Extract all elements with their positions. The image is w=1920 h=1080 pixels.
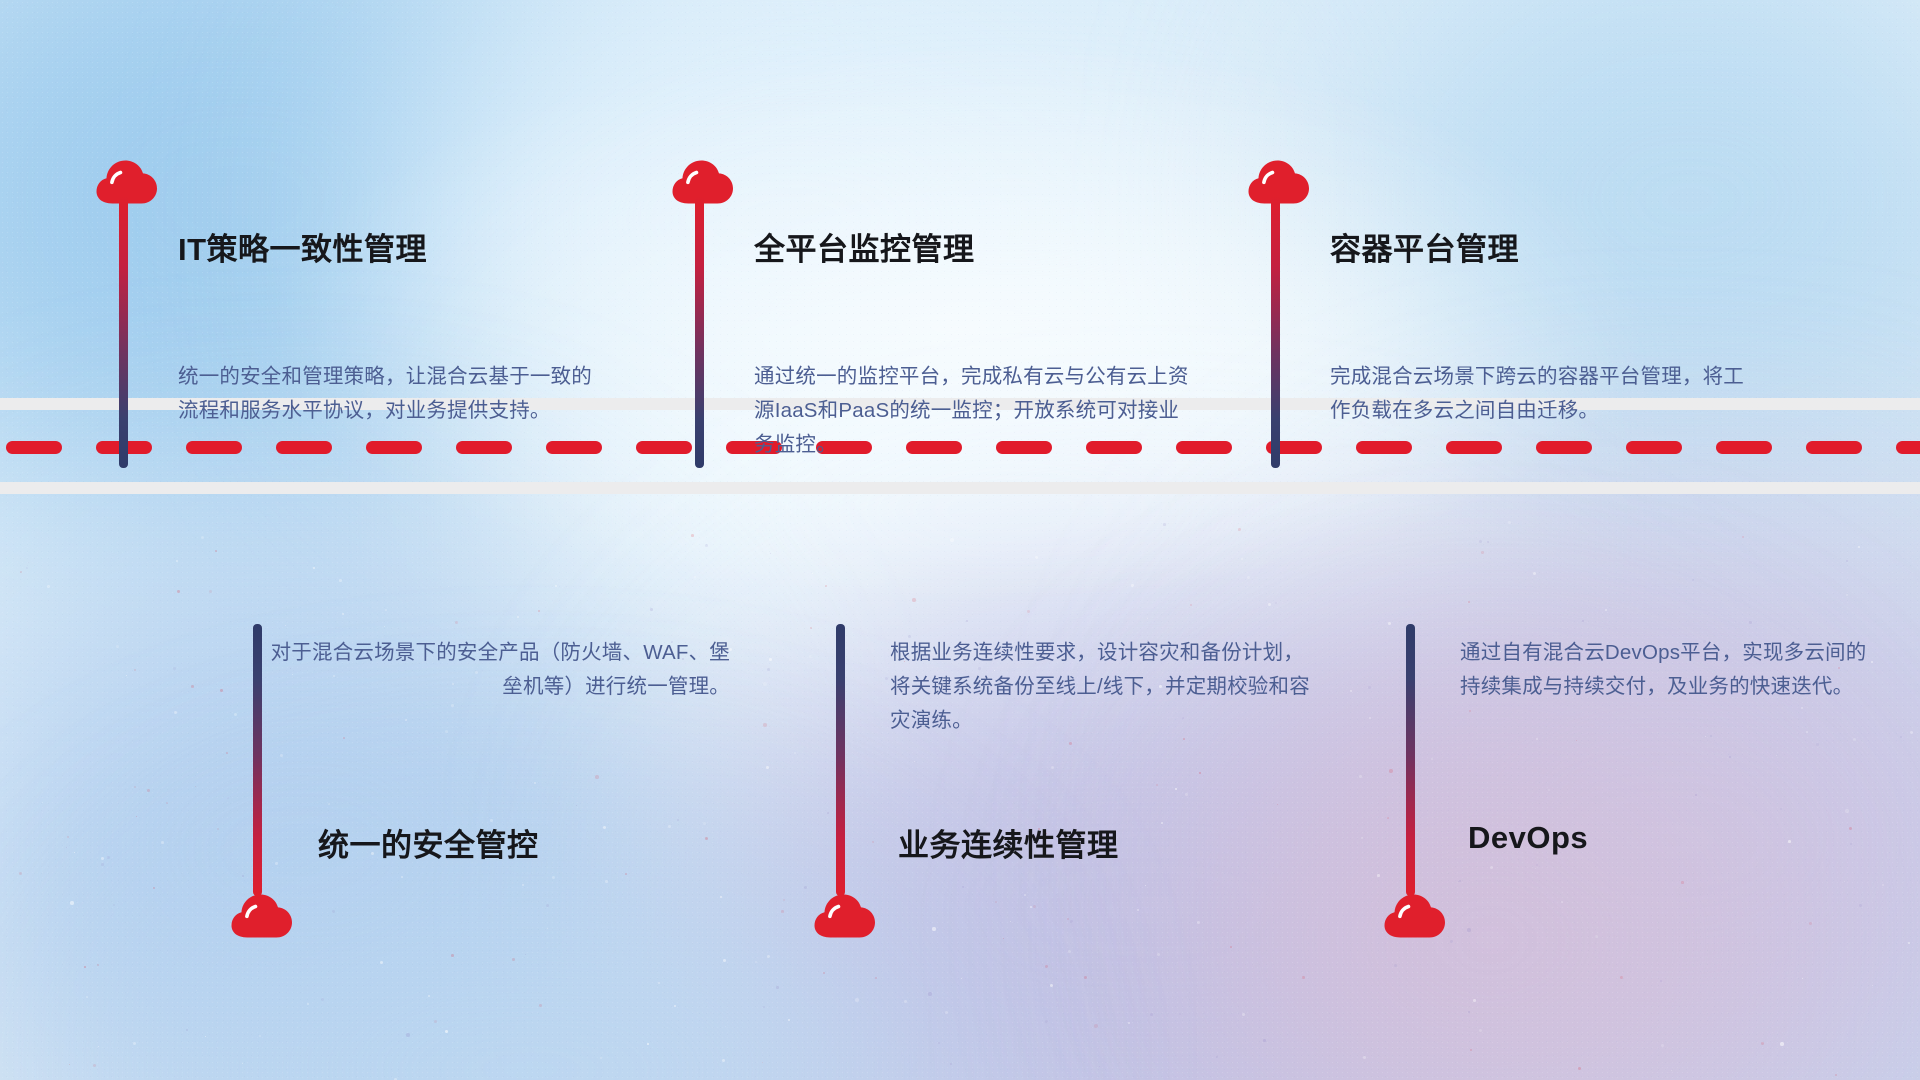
background-speck	[1241, 558, 1243, 560]
background-speck	[1268, 603, 1271, 606]
card-title: DevOps	[1468, 820, 1588, 856]
background-speck	[116, 645, 119, 648]
background-speck	[1175, 788, 1177, 790]
card-description: 对于混合云场景下的安全产品（防火墙、WAF、堡垒机等）进行统一管理。	[270, 636, 730, 704]
background-speck	[809, 655, 812, 658]
connector-line	[1406, 624, 1415, 896]
background-speck	[928, 992, 932, 996]
background-speck	[1908, 942, 1910, 944]
divider-band-bottom	[0, 482, 1920, 494]
background-speck	[1051, 766, 1054, 769]
background-speck	[1468, 1011, 1470, 1013]
background-speck	[855, 998, 859, 1002]
background-speck	[1216, 1056, 1218, 1058]
background-speck	[605, 880, 608, 883]
background-speck	[1561, 901, 1563, 903]
background-speck	[343, 737, 345, 739]
background-speck	[912, 598, 916, 602]
card-title: 统一的安全管控	[318, 820, 539, 865]
background-speck	[872, 841, 874, 843]
background-speck	[177, 590, 180, 593]
background-speck	[1094, 1024, 1098, 1028]
background-speck	[763, 1006, 765, 1008]
background-speck	[173, 667, 176, 670]
background-speck	[625, 873, 627, 875]
connector-line	[836, 624, 845, 896]
divider-dash	[456, 441, 512, 454]
background-speck	[1131, 584, 1134, 587]
background-speck	[321, 998, 324, 1001]
divider-dash	[546, 441, 602, 454]
background-speck	[1389, 769, 1393, 773]
background-speck	[539, 1004, 542, 1007]
background-speck	[674, 1005, 676, 1007]
background-speck	[1816, 743, 1819, 746]
divider-dash	[366, 441, 422, 454]
background-speck	[522, 884, 524, 886]
background-speck	[275, 862, 278, 865]
background-speck	[723, 959, 726, 962]
background-speck	[1846, 594, 1848, 596]
background-speck	[938, 1042, 940, 1044]
background-speck	[101, 863, 104, 866]
background-speck	[313, 567, 315, 569]
background-speck	[647, 1043, 649, 1045]
background-speck	[512, 958, 515, 961]
background-speck	[428, 995, 430, 997]
background-speck	[1900, 736, 1902, 738]
background-speck	[769, 658, 772, 661]
background-speck	[763, 682, 767, 686]
background-speck	[875, 977, 877, 979]
background-speck	[1469, 710, 1471, 712]
connector-line	[695, 196, 704, 468]
background-speck	[1069, 742, 1072, 745]
background-speck	[1605, 609, 1607, 611]
card-title: 容器平台管理	[1330, 224, 1519, 269]
background-speck	[67, 836, 69, 838]
cloud-icon	[814, 894, 876, 938]
background-speck	[966, 620, 968, 622]
background-speck	[691, 534, 694, 537]
background-speck	[339, 579, 342, 582]
background-speck	[1536, 864, 1538, 866]
background-speck	[1263, 1039, 1266, 1042]
background-speck	[93, 1064, 96, 1067]
background-speck	[1363, 1056, 1366, 1059]
background-speck	[70, 901, 74, 905]
background-speck	[385, 609, 387, 611]
background-speck	[1846, 560, 1848, 562]
background-speck	[600, 1057, 602, 1059]
background-speck	[720, 896, 722, 898]
background-speck	[763, 723, 767, 727]
background-speck	[101, 857, 104, 860]
background-speck	[220, 689, 223, 692]
background-speck	[1179, 1013, 1181, 1015]
background-speck	[1734, 622, 1735, 623]
background-speck	[576, 805, 577, 806]
cloud-icon	[231, 894, 293, 938]
background-speck	[534, 782, 536, 784]
background-speck	[1681, 881, 1684, 884]
background-speck	[161, 841, 164, 844]
background-speck	[1729, 756, 1731, 758]
background-speck	[1185, 793, 1188, 796]
background-speck	[668, 825, 671, 828]
card-title: 全平台监控管理	[754, 224, 975, 269]
background-speck	[191, 685, 194, 688]
background-speck	[401, 876, 403, 878]
background-speck	[1468, 601, 1470, 603]
background-speck	[1242, 1013, 1245, 1016]
background-speck	[1431, 758, 1433, 760]
divider-dash	[1446, 441, 1502, 454]
background-speck	[227, 797, 229, 799]
divider-dash	[186, 441, 242, 454]
background-speck	[1845, 809, 1849, 813]
background-speck	[823, 972, 825, 974]
cloud-icon	[1384, 894, 1446, 938]
background-speck	[1788, 840, 1791, 843]
background-speck	[1361, 837, 1363, 839]
background-speck	[1163, 523, 1166, 526]
divider-dash	[1356, 441, 1412, 454]
background-speck	[1582, 620, 1584, 622]
card-description: 通过统一的监控平台，完成私有云与公有云上资源IaaS和PaaS的统一监控；开放系…	[754, 360, 1194, 462]
background-speck	[86, 996, 88, 998]
background-speck	[755, 961, 757, 963]
background-speck	[147, 789, 150, 792]
background-speck	[1230, 946, 1232, 948]
background-speck	[1835, 1074, 1837, 1076]
background-speck	[74, 852, 75, 853]
background-speck	[445, 730, 448, 733]
background-speck	[1850, 843, 1852, 845]
divider-dash	[636, 441, 692, 454]
background-speck	[776, 986, 779, 989]
divider-dash	[6, 441, 62, 454]
background-speck	[196, 990, 197, 991]
card-title: IT策略一致性管理	[178, 224, 427, 269]
background-speck	[1035, 556, 1038, 559]
background-speck	[1377, 874, 1380, 877]
background-speck	[1536, 738, 1538, 740]
background-speck	[722, 1059, 725, 1062]
background-speck	[1742, 536, 1744, 538]
background-speck	[1388, 622, 1391, 625]
background-speck	[107, 856, 110, 859]
background-speck	[1660, 980, 1662, 982]
background-speck	[781, 910, 784, 913]
card-description: 根据业务连续性要求，设计容灾和备份计划，将关键系统备份至线上/线下，并定期校验和…	[890, 636, 1320, 738]
background-speck	[1780, 1042, 1784, 1046]
background-speck	[445, 1030, 448, 1033]
background-speck	[1183, 738, 1185, 740]
background-speck	[1369, 717, 1371, 719]
background-speck	[770, 553, 771, 554]
background-speck	[134, 786, 136, 788]
background-speck	[995, 901, 997, 903]
background-speck	[1776, 755, 1777, 756]
background-speck	[1801, 707, 1803, 709]
divider-dash	[1896, 441, 1920, 454]
background-speck	[201, 536, 204, 539]
background-speck	[134, 669, 136, 671]
divider-dash	[276, 441, 332, 454]
background-speck	[342, 613, 344, 615]
divider-dash	[1716, 441, 1772, 454]
background-speck	[1068, 950, 1071, 953]
background-speck	[1710, 735, 1712, 737]
background-speck	[1780, 808, 1782, 810]
background-speck	[226, 752, 228, 754]
background-speck	[1024, 894, 1026, 896]
background-speck	[1030, 906, 1032, 908]
background-speck	[1467, 928, 1471, 932]
background-speck	[1853, 738, 1856, 741]
card-description: 完成混合云场景下跨云的容器平台管理，将工作负载在多云之间自由迁移。	[1330, 360, 1760, 428]
divider-dash	[1536, 441, 1592, 454]
background-speck	[595, 775, 599, 779]
background-speck	[328, 803, 330, 805]
background-speck	[950, 538, 954, 542]
background-speck	[280, 754, 283, 757]
background-speck	[1128, 1022, 1130, 1024]
background-speck	[1359, 775, 1362, 778]
background-speck	[1147, 618, 1148, 619]
background-speck	[1859, 904, 1862, 907]
background-speck	[1576, 740, 1577, 741]
background-speck	[1692, 579, 1694, 581]
background-speck	[451, 954, 454, 957]
divider-dash	[1626, 441, 1682, 454]
background-speck	[215, 550, 217, 552]
background-speck	[176, 560, 178, 562]
connector-line	[119, 196, 128, 468]
background-speck	[451, 704, 454, 707]
background-speck	[1190, 604, 1192, 606]
background-speck	[84, 966, 86, 968]
background-speck	[1003, 938, 1004, 939]
background-speck	[126, 675, 127, 676]
background-speck	[932, 927, 936, 931]
background-speck	[406, 1033, 410, 1037]
background-speck	[1487, 541, 1489, 543]
background-speck	[766, 766, 769, 769]
background-speck	[1161, 822, 1163, 824]
connector-line	[253, 624, 262, 896]
card-description: 统一的安全和管理策略，让混合云基于一致的流程和服务水平协议，对业务提供支持。	[178, 360, 598, 428]
background-speck	[1806, 731, 1808, 733]
background-speck	[20, 571, 22, 573]
card-description: 通过自有混合云DevOps平台，实现多云间的持续集成与持续交付，及业务的快速迭代…	[1460, 636, 1880, 704]
connector-line	[1271, 196, 1280, 468]
background-speck	[650, 608, 653, 611]
divider-dash	[1806, 441, 1862, 454]
background-speck	[804, 886, 807, 889]
infographic-canvas: IT策略一致性管理 统一的安全和管理策略，让混合云基于一致的流程和服务水平协议，…	[0, 0, 1920, 1080]
card-title: 业务连续性管理	[898, 820, 1119, 865]
background-speck	[810, 627, 812, 629]
background-speck	[1302, 976, 1305, 979]
background-speck	[1150, 1013, 1153, 1016]
background-speck	[703, 822, 706, 825]
background-speck	[1473, 999, 1476, 1002]
